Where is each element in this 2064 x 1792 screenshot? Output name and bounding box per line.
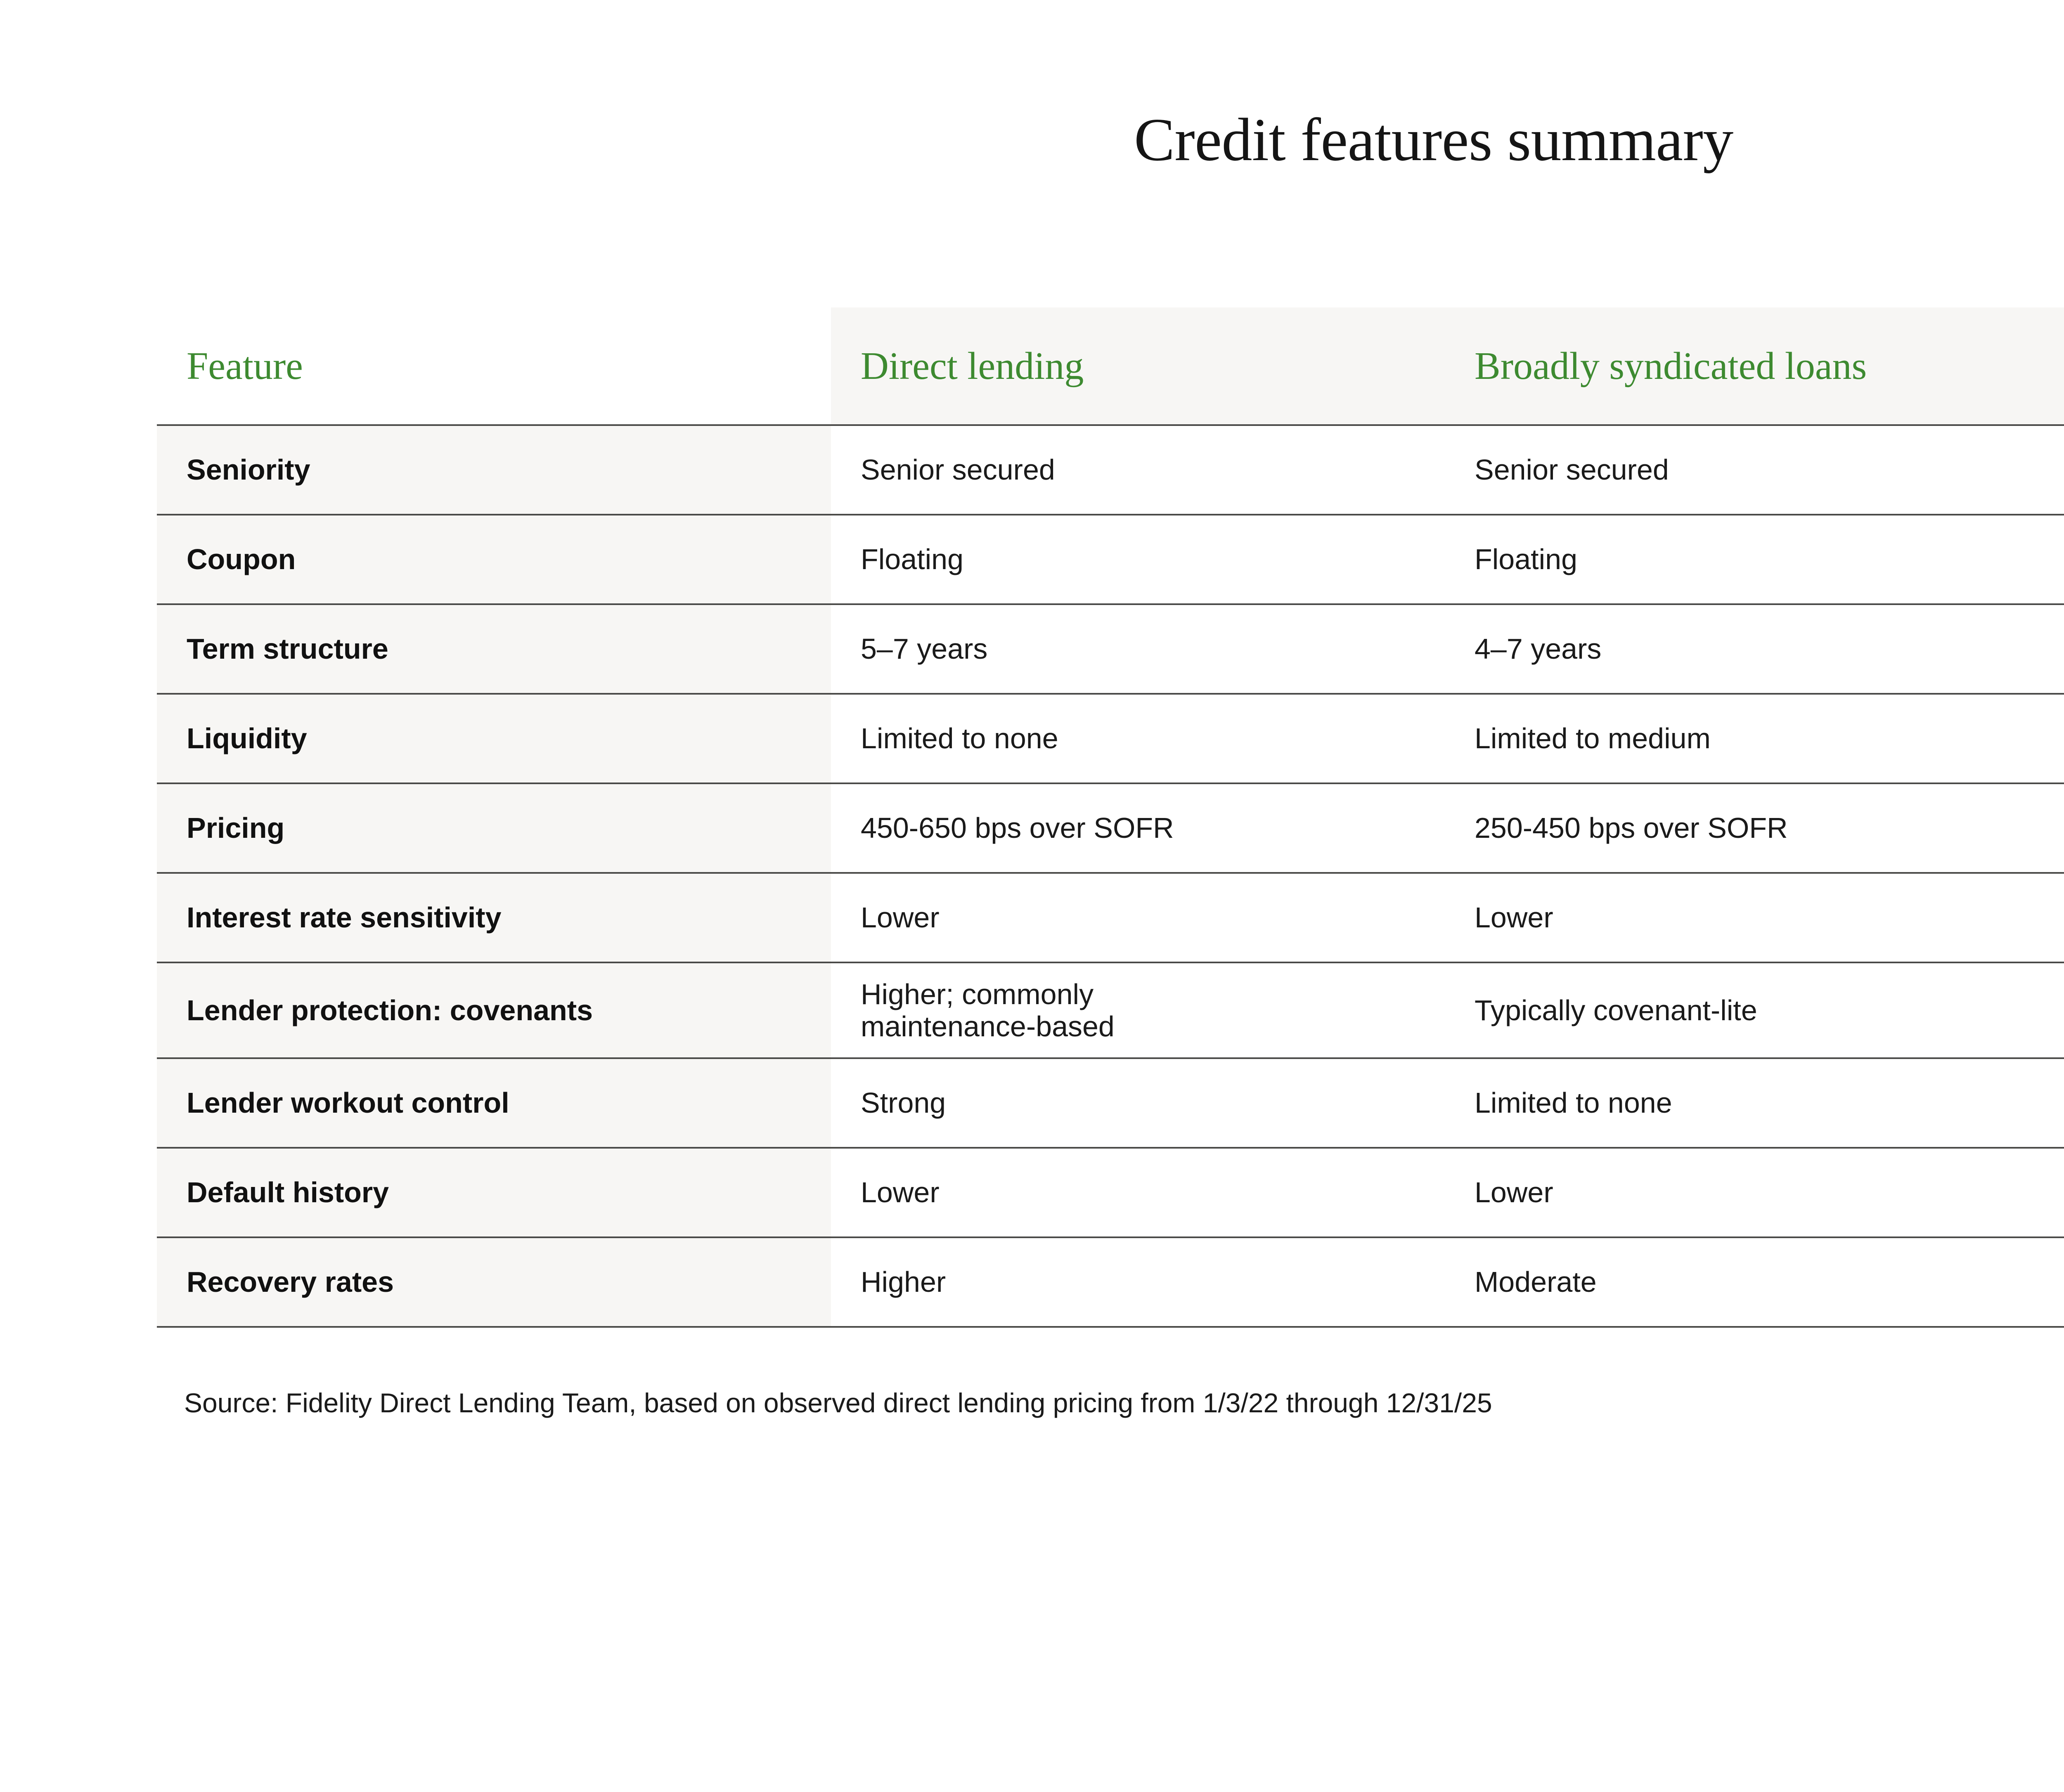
- cell-direct-lending: Senior secured: [831, 425, 1445, 515]
- credit-features-table: Feature Direct lending Broadly syndicate…: [157, 307, 2064, 1328]
- cell-direct-lending: Lower: [831, 873, 1445, 962]
- row-feature-label: Term structure: [157, 604, 831, 694]
- cell-direct-lending: Lower: [831, 1148, 1445, 1237]
- cell-broadly-syndicated-loans: Lower: [1445, 873, 2064, 962]
- table-row: Recovery rates Higher Moderate Moderate …: [157, 1237, 2064, 1327]
- cell-direct-lending: Strong: [831, 1058, 1445, 1148]
- table-body: Seniority Senior secured Senior secured …: [157, 425, 2064, 1327]
- row-feature-label: Interest rate sensitivity: [157, 873, 831, 962]
- row-feature-label: Seniority: [157, 425, 831, 515]
- column-header-direct-lending: Direct lending: [831, 307, 1445, 425]
- table-row: Lender workout control Strong Limited to…: [157, 1058, 2064, 1148]
- row-feature-label: Default history: [157, 1148, 831, 1237]
- credit-features-table-wrapper: Feature Direct lending Broadly syndicate…: [157, 307, 2064, 1328]
- row-feature-label: Pricing: [157, 783, 831, 873]
- cell-direct-lending: Floating: [831, 515, 1445, 604]
- row-feature-label: Lender workout control: [157, 1058, 831, 1148]
- table-row: Lender protection: covenants Higher; com…: [157, 962, 2064, 1058]
- cell-direct-lending-line2: maintenance-based: [861, 1010, 1428, 1043]
- table-header-row: Feature Direct lending Broadly syndicate…: [157, 307, 2064, 425]
- cell-broadly-syndicated-loans: Floating: [1445, 515, 2064, 604]
- table-row: Default history Lower Lower Moderate to …: [157, 1148, 2064, 1237]
- cell-broadly-syndicated-loans: Moderate: [1445, 1237, 2064, 1327]
- table-header: Feature Direct lending Broadly syndicate…: [157, 307, 2064, 425]
- cell-broadly-syndicated-loans: Limited to medium: [1445, 694, 2064, 783]
- table-row: Liquidity Limited to none Limited to med…: [157, 694, 2064, 783]
- table-row: Coupon Floating Floating Fixed: [157, 515, 2064, 604]
- cell-broadly-syndicated-loans: Typically covenant-lite: [1445, 962, 2064, 1058]
- row-feature-label: Coupon: [157, 515, 831, 604]
- cell-direct-lending: 450-650 bps over SOFR: [831, 783, 1445, 873]
- row-feature-label: Liquidity: [157, 694, 831, 783]
- page-title: Credit features summary: [0, 106, 2064, 174]
- table-row: Pricing 450-650 bps over SOFR 250-450 bp…: [157, 783, 2064, 873]
- cell-broadly-syndicated-loans: Senior secured: [1445, 425, 2064, 515]
- table-row: Term structure 5–7 years 4–7 years 5–10 …: [157, 604, 2064, 694]
- source-note: Source: Fidelity Direct Lending Team, ba…: [184, 1387, 1492, 1419]
- cell-broadly-syndicated-loans: Lower: [1445, 1148, 2064, 1237]
- cell-broadly-syndicated-loans: 4–7 years: [1445, 604, 2064, 694]
- cell-broadly-syndicated-loans: Limited to none: [1445, 1058, 2064, 1148]
- cell-direct-lending: Higher; commonly maintenance-based: [831, 962, 1445, 1058]
- row-feature-label: Recovery rates: [157, 1237, 831, 1327]
- slide-page: Credit features summary Feature Direct l…: [0, 0, 2064, 1792]
- cell-direct-lending: Limited to none: [831, 694, 1445, 783]
- table-row: Interest rate sensitivity Lower Lower Mo…: [157, 873, 2064, 962]
- cell-direct-lending: Higher: [831, 1237, 1445, 1327]
- row-feature-label: Lender protection: covenants: [157, 962, 831, 1058]
- table-row: Seniority Senior secured Senior secured …: [157, 425, 2064, 515]
- column-header-feature: Feature: [157, 307, 831, 425]
- cell-direct-lending-line1: Higher; commonly: [861, 978, 1428, 1010]
- column-header-broadly-syndicated-loans: Broadly syndicated loans: [1445, 307, 2064, 425]
- cell-broadly-syndicated-loans: 250-450 bps over SOFR: [1445, 783, 2064, 873]
- cell-direct-lending: 5–7 years: [831, 604, 1445, 694]
